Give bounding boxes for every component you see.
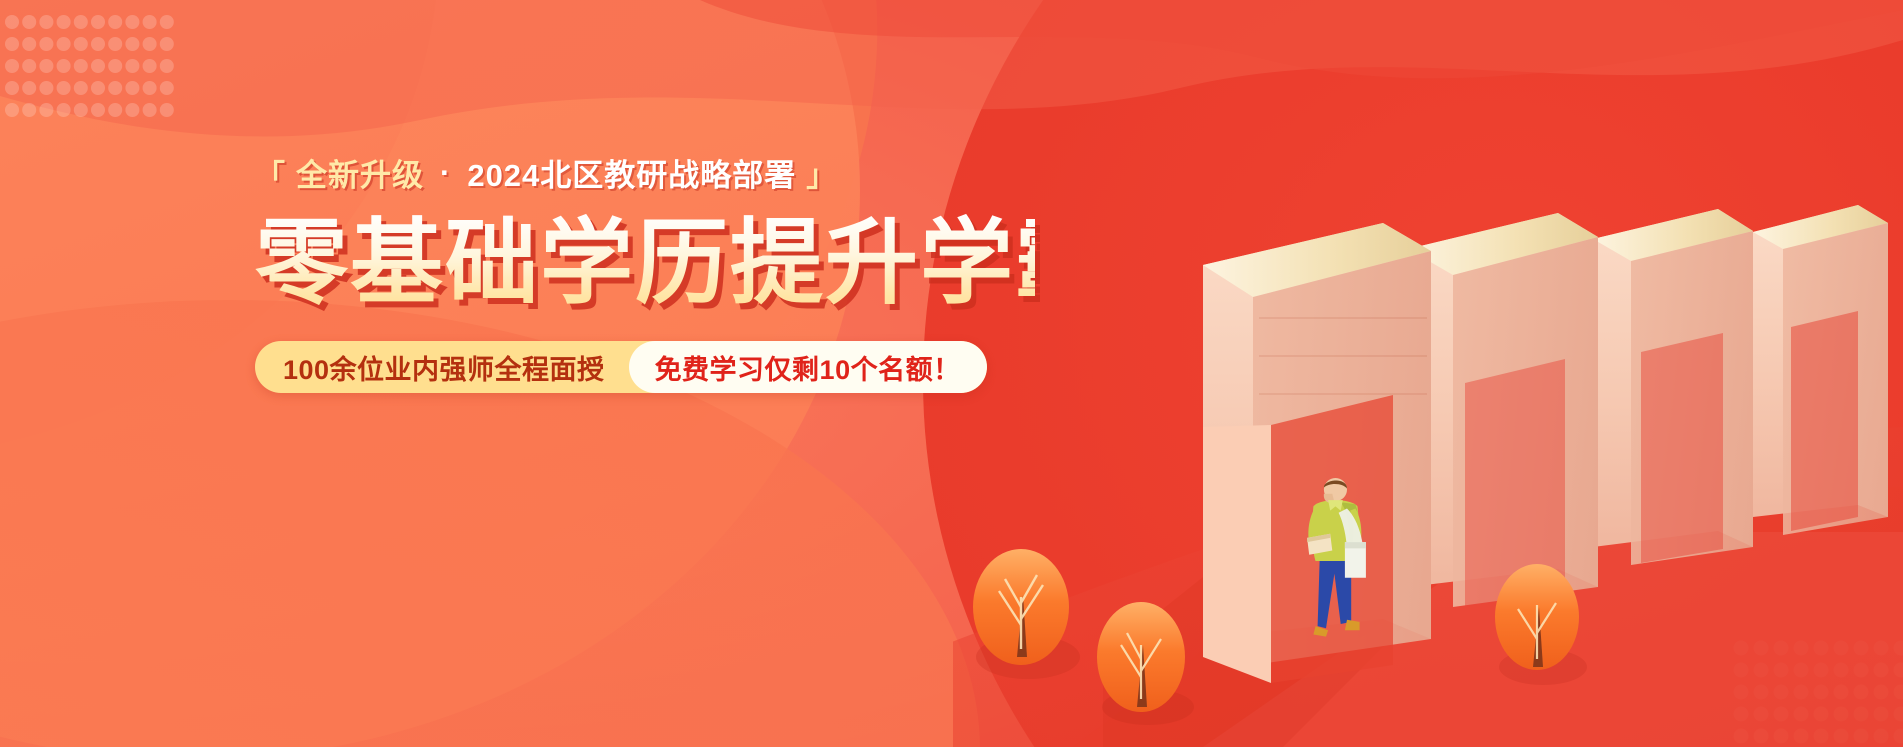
page-title: 零基础学历提升学霸班	[255, 213, 1035, 313]
eyebrow-part-1: 全新升级	[296, 150, 424, 195]
bracket-close-icon: 」	[806, 151, 837, 195]
dot-grid-top-left	[4, 14, 184, 118]
banner-eyebrow: 「 全新升级 · 2024北区教研战略部署 」	[255, 150, 1035, 195]
promo-banner: 「 全新升级 · 2024北区教研战略部署 」 零基础学历提升学霸班 100余位…	[0, 0, 1903, 747]
pill-teachers-label: 100余位业内强师全程面授	[255, 341, 629, 393]
pill-seats-badge: 免费学习仅剩10个名额！	[629, 341, 987, 393]
bracket-open-icon: 「	[255, 151, 286, 195]
eyebrow-part-2: 2024北区教研战略部署	[467, 150, 796, 195]
book-arch-2	[1408, 213, 1598, 607]
eyebrow-separator-icon: ·	[434, 155, 457, 191]
book-arch-3	[1593, 209, 1753, 565]
book-arch-4	[1753, 205, 1888, 535]
tree-left	[973, 549, 1080, 679]
highlight-pill[interactable]: 100余位业内强师全程面授 免费学习仅剩10个名额！	[255, 341, 987, 393]
banner-copy: 「 全新升级 · 2024北区教研战略部署 」 零基础学历提升学霸班 100余位…	[255, 150, 1035, 393]
